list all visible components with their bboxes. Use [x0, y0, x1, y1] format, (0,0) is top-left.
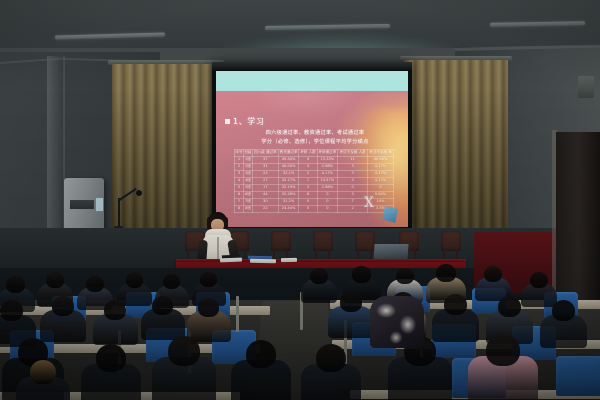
- attendee-head: [163, 274, 180, 289]
- slide-table-cell: 0: [299, 205, 317, 212]
- chair-frame: [236, 296, 239, 332]
- slide-bullet-icon: [225, 119, 230, 124]
- slide-subtitle-line-1: 四六级通过率、教资通过率、考试通过率: [240, 129, 390, 136]
- slide-table-cell: 32.1%: [278, 170, 299, 177]
- attendee-head: [396, 268, 414, 284]
- slide-table-cell: 17: [252, 184, 278, 191]
- slide-table-cell: 7: [235, 198, 244, 205]
- slide-table-cell: 31.2%: [278, 198, 299, 205]
- audience-chair-back: [556, 356, 600, 396]
- slide-subtitle-line-2: 学分（必修、选修），学位课程平均学分绩点: [240, 138, 390, 145]
- slide-table-cell: 1班: [243, 156, 252, 163]
- air-conditioner-vent: [70, 200, 94, 209]
- slide-table-cell: 4: [299, 156, 317, 163]
- slide-table-cell: 4.17%: [368, 163, 394, 170]
- slide-table-header-cell: 教资通过率: [278, 150, 299, 157]
- slide-table-cell: 2.98%: [317, 163, 338, 170]
- slide-table-cell: 6班: [243, 191, 252, 198]
- slide-table-row: 11班3749.44%413.33%1140.56%: [235, 156, 394, 163]
- table-paper: [220, 258, 242, 263]
- slide-table-cell: 3: [338, 170, 368, 177]
- slide-table-cell: 27: [252, 177, 278, 184]
- attendee-head: [552, 300, 575, 321]
- attendee-head: [86, 276, 104, 292]
- slide-table-cell: 0: [338, 184, 368, 191]
- slide-table-cell: 14.47%: [317, 177, 338, 184]
- slide-table-header-cell: 考研通过率: [317, 150, 338, 157]
- attendee-head: [486, 334, 520, 366]
- attendee-head: [498, 296, 521, 317]
- slide-table-cell: 8: [299, 191, 317, 198]
- slide-table-cell: 4.17%: [317, 170, 338, 177]
- stage-chair-back: [441, 231, 461, 251]
- slide-table-row: 33班2232.1%24.17%34.17%: [235, 170, 394, 177]
- slide-table-cell: 22: [252, 170, 278, 177]
- slide-table-header-cell: 四六级 通过率: [252, 150, 278, 157]
- attendee-head: [200, 272, 217, 287]
- slide-table-row: 44班2732.17%714.47%34.17%: [235, 177, 394, 184]
- table-paper: [281, 258, 297, 262]
- slide-table-cell: 0: [368, 184, 394, 191]
- slide-table-cell: 3: [299, 184, 317, 191]
- slide-table-cell: 0: [317, 205, 338, 212]
- attendee-head: [46, 272, 64, 288]
- attendee-head: [484, 266, 502, 282]
- attendee-head: [198, 298, 219, 317]
- projection-screen-housing: [212, 62, 412, 70]
- slide-table-cell: 3: [299, 163, 317, 170]
- slide-table-cell: 4.17%: [368, 177, 394, 184]
- slide-table-row: 55班1732.19%32.98%00: [235, 184, 394, 191]
- attendee-head: [352, 266, 371, 283]
- attendee-head: [310, 268, 328, 284]
- slide-table-header-cell: 考研 人数: [299, 150, 317, 157]
- attendee-head: [52, 296, 74, 316]
- attendee-head: [444, 294, 467, 315]
- attendee-head: [316, 344, 346, 372]
- slide-table-cell: 3: [338, 177, 368, 184]
- slide-table-cell: 32.17%: [278, 177, 299, 184]
- slide-table-cell: 1: [235, 156, 244, 163]
- slide-table-cell: 49.44%: [278, 156, 299, 163]
- slide-table-cell: 40.00%: [278, 163, 299, 170]
- slide-table-cell: 44: [252, 191, 278, 198]
- attendee-head: [152, 296, 173, 315]
- slide-table-row: 22班3140.00%32.98%34.17%: [235, 163, 394, 170]
- stage-chair-back: [313, 231, 333, 251]
- slide-table-cell: 32.19%: [278, 184, 299, 191]
- lecture-hall-photo: 1、学习 四六级通过率、教资通过率、考试通过率 学分（必修、选修），学位课程平均…: [0, 0, 600, 400]
- attendee-head: [246, 340, 276, 368]
- slide-table-cell: 8班: [243, 205, 252, 212]
- slide-table-cell: 4班: [243, 177, 252, 184]
- slide-table-cell: 40.56%: [368, 156, 394, 163]
- slide-table-header-row: 序号班级四六级 通过率教资通过率考研 人数考研通过率考试不及格 人数考试不及格 …: [235, 150, 394, 157]
- slide-table-cell: 0: [299, 198, 317, 205]
- slide-table-cell: 3班: [243, 170, 252, 177]
- slide-table-cell: 0: [317, 198, 338, 205]
- door-frame: [556, 132, 600, 302]
- attendee-head: [0, 300, 23, 321]
- slide-table-cell: 4.17%: [368, 170, 394, 177]
- projector-hotspot: [250, 78, 360, 118]
- slide-table-cell: 2: [235, 163, 244, 170]
- slide-table-cell: 32.26%: [278, 191, 299, 198]
- slide-table-header-cell: 考试不及格 率: [368, 150, 394, 157]
- air-conditioner-label: [96, 198, 103, 211]
- patterned-jacket-attendee: [370, 296, 424, 348]
- attendee-head: [126, 272, 143, 288]
- slide-table-header-cell: 班级: [243, 150, 252, 157]
- attendee-head: [168, 336, 200, 366]
- slide-table-cell: 30: [252, 198, 278, 205]
- wall-speaker: [578, 76, 594, 98]
- attendee-head: [96, 344, 126, 372]
- slide-table-cell: 3: [338, 163, 368, 170]
- slide-table-cell: 4: [235, 177, 244, 184]
- attendee-head: [340, 292, 362, 312]
- attendee-head: [104, 300, 126, 320]
- slide-table-cell: 37: [252, 156, 278, 163]
- slide-table-cell: 24.44%: [278, 205, 299, 212]
- slide-table-header-cell: 考试不及格 人数: [338, 150, 368, 157]
- slide-table-cell: 2.98%: [317, 184, 338, 191]
- slide-table-cell: 2班: [243, 163, 252, 170]
- slide-table-cell: 7: [299, 177, 317, 184]
- slide-table-cell: 11: [338, 156, 368, 163]
- attendee-head: [436, 264, 456, 282]
- microphone-head: [136, 190, 142, 196]
- attendee-head: [6, 276, 25, 293]
- attendee-head: [530, 272, 548, 288]
- slide-table-cell: 2: [299, 170, 317, 177]
- attendee-head: [30, 360, 56, 384]
- table-paper: [250, 259, 276, 263]
- slide-table-cell: 0: [317, 191, 338, 198]
- slide-logo: X: [364, 193, 398, 223]
- slide-table-header-cell: 序号: [235, 150, 244, 157]
- slide-table-cell: 22: [252, 205, 278, 212]
- slide-table-cell: 13.33%: [317, 156, 338, 163]
- slide-table-cell: 5班: [243, 184, 252, 191]
- slide-logo-shape-icon: [382, 206, 398, 223]
- slide-table-cell: 7班: [243, 198, 252, 205]
- stage-chair-back: [355, 231, 375, 251]
- slide-table-cell: 31: [252, 163, 278, 170]
- stage-chair-back: [271, 231, 291, 251]
- slide-table-cell: 6: [235, 191, 244, 198]
- slide-table-cell: 5: [235, 184, 244, 191]
- slide-table-cell: 3: [235, 170, 244, 177]
- slide-logo-mark: X: [364, 195, 374, 211]
